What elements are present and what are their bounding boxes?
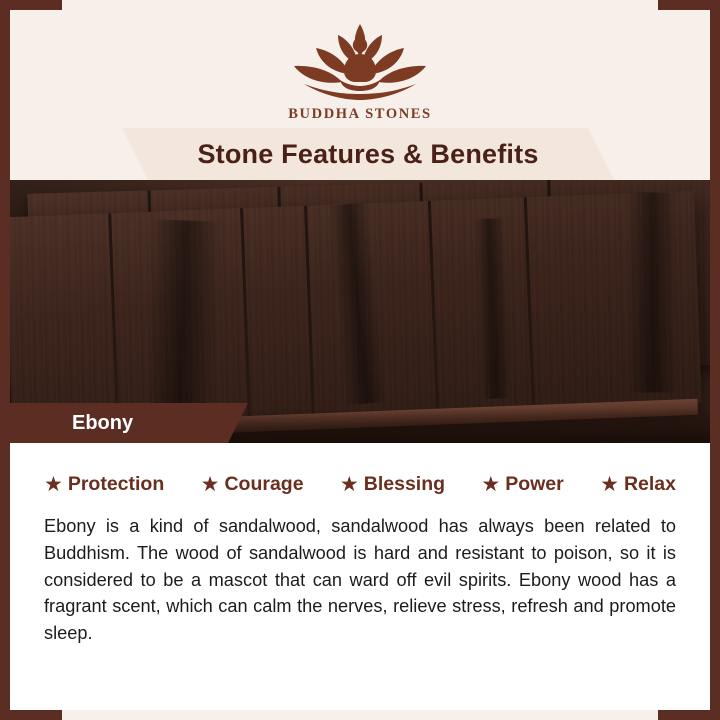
corner-bottom-left [0, 658, 62, 720]
star-icon: ★ [340, 474, 359, 495]
benefit-item-courage: ★ Courage [201, 473, 304, 496]
lotus-buddha-icon [274, 22, 446, 100]
benefit-label: Blessing [364, 473, 445, 496]
benefit-label: Power [505, 473, 564, 496]
star-icon: ★ [44, 474, 63, 495]
product-description: Ebony is a kind of sandalwood, sandalwoo… [44, 513, 676, 647]
title-banner: Stone Features & Benefits [148, 128, 588, 180]
content-panel: ★ Protection ★ Courage ★ Blessing ★ Powe… [10, 443, 710, 710]
benefit-label: Courage [224, 473, 303, 496]
star-icon: ★ [481, 474, 500, 495]
benefits-list: ★ Protection ★ Courage ★ Blessing ★ Powe… [44, 473, 676, 496]
star-icon: ★ [600, 474, 619, 495]
product-name: Ebony [0, 412, 133, 435]
brand-logo: BUDDHA STONES [200, 22, 520, 123]
product-name-banner: Ebony [0, 403, 228, 443]
infographic-page: BUDDHA STONES Stone Features & Benefits [0, 0, 720, 720]
corner-bottom-right [658, 658, 720, 720]
frame-left-border [0, 0, 10, 720]
benefit-item-blessing: ★ Blessing [340, 473, 445, 496]
benefit-label: Relax [624, 473, 676, 496]
benefit-item-protection: ★ Protection [44, 473, 164, 496]
benefit-item-power: ★ Power [481, 473, 563, 496]
benefit-item-relax: ★ Relax [600, 473, 676, 496]
star-icon: ★ [201, 474, 220, 495]
brand-name: BUDDHA STONES [200, 106, 520, 123]
wood-board-front [4, 191, 702, 429]
benefit-label: Protection [68, 473, 164, 496]
frame-right-border [710, 0, 720, 720]
corner-top-right [658, 0, 720, 62]
page-title: Stone Features & Benefits [197, 139, 538, 170]
corner-top-left [0, 0, 62, 62]
